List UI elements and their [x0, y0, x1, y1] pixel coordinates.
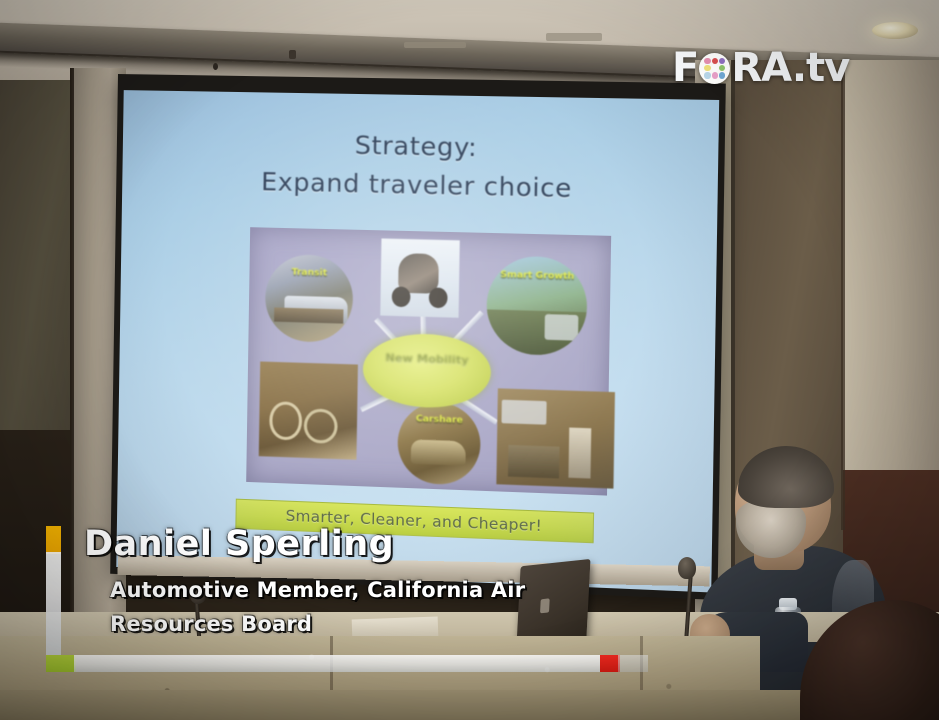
floor — [0, 690, 939, 720]
microphone-icon — [678, 557, 696, 579]
logo-dot — [704, 72, 710, 78]
watermark-suffix: RA.tv — [731, 48, 849, 88]
logo-dot — [712, 72, 718, 78]
screen-vignette — [116, 90, 719, 592]
lower-third-vertical-bar — [46, 552, 61, 658]
lower-third-red-accent — [600, 655, 620, 672]
slide-surface: Strategy: Expand traveler choice Transit — [116, 90, 719, 592]
logo-dot — [719, 72, 725, 78]
logo-dot — [719, 58, 725, 64]
speaker-name: Daniel Sperling — [84, 524, 394, 564]
recessed-light-icon — [872, 22, 918, 39]
logo-dot — [704, 58, 710, 64]
logo-dot — [719, 65, 725, 71]
speaker-title-line-1: Automotive Member, California Air — [110, 578, 525, 602]
ceiling-mount — [213, 63, 218, 70]
wall-seam — [841, 60, 845, 530]
ceiling-track-fixture — [404, 42, 466, 48]
watermark-prefix: F — [672, 48, 698, 88]
lower-third-green-accent — [46, 655, 76, 672]
projection-screen: Strategy: Expand traveler choice Transit — [110, 74, 726, 600]
speaker-title-line-2: Resources Board — [110, 612, 312, 636]
lower-third-horizontal-bar — [74, 655, 602, 672]
fora-tv-watermark: F RA.tv — [672, 46, 849, 90]
lower-third-bar-tail — [618, 655, 648, 672]
lower-third-accent-top — [46, 526, 61, 554]
logo-dot — [712, 58, 718, 64]
logo-dot — [704, 65, 710, 71]
ceiling-track-fixture — [546, 33, 602, 41]
fora-circle-logo-icon — [699, 53, 730, 84]
right-wall-panel-b — [843, 60, 939, 530]
ceiling-mount — [289, 50, 296, 59]
logo-dot — [712, 65, 718, 71]
video-frame: Strategy: Expand traveler choice Transit — [0, 0, 939, 720]
laptop-logo-icon — [540, 599, 550, 614]
